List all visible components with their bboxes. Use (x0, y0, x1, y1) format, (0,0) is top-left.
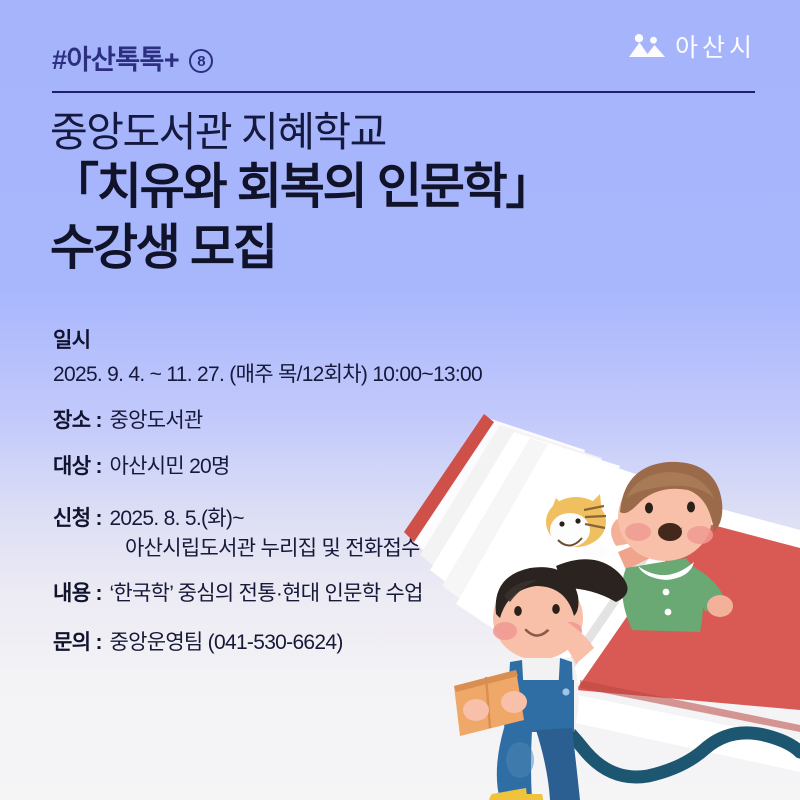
detail-row-date: 일시 2025. 9. 4. ~ 11. 27. (매주 목/12회차) 10:… (53, 325, 693, 390)
detail-label-place: 장소 (53, 405, 90, 437)
detail-value-apply: 2025. 8. 5.(화)~ (109, 504, 243, 534)
detail-separator-place: : (90, 409, 109, 433)
details-list: 일시 2025. 9. 4. ~ 11. 27. (매주 목/12회차) 10:… (53, 325, 693, 674)
detail-value-place: 중앙도서관 (109, 406, 202, 436)
detail-value-apply-line2: 아산시립도서관 누리집 및 전화접수 (53, 534, 693, 564)
title-block: 중앙도서관 지혜학교 「치유와 회복의 인문학」 수강생 모집 (50, 108, 750, 278)
girl-right-hand (501, 691, 527, 713)
detail-row-contact: 문의 : 중앙운영팀 (041-530-6624) (53, 627, 693, 659)
girl-left-hand (463, 699, 489, 721)
episode-number-badge: 8 (189, 49, 213, 73)
poster-title-line2: 수강생 모집 (50, 219, 750, 278)
teal-ribbon-bookmark (548, 710, 800, 777)
poster-subtitle: 중앙도서관 지혜학교 (50, 108, 750, 156)
detail-value-target: 아산시민 20명 (109, 452, 229, 482)
detail-separator-content: : (90, 582, 109, 606)
detail-separator-apply: : (90, 507, 109, 531)
detail-value-content: ‘한국학’ 중심의 전통·현대 인문학 수업 (109, 579, 422, 609)
detail-row-place: 장소 : 중앙도서관 (53, 405, 693, 437)
detail-value-date: 2025. 9. 4. ~ 11. 27. (매주 목/12회차) 10:00~… (53, 360, 693, 390)
detail-label-content: 내용 (53, 578, 90, 610)
detail-label-contact: 문의 (53, 627, 90, 659)
orange-open-book-held (454, 670, 524, 736)
hashtag-label: #아산톡톡+8 (52, 38, 213, 77)
poster-canvas: #아산톡톡+8 아산시 중앙도서관 지혜학교 「치유와 회복의 인문학」 수강생… (0, 0, 800, 800)
brand-name-label: 아산시 (675, 28, 756, 64)
detail-label-apply: 신청 (53, 503, 90, 535)
detail-separator-target: : (90, 455, 109, 479)
detail-label-target: 대상 (53, 451, 90, 483)
asan-mountain-people-icon (628, 33, 666, 59)
poster-header: #아산톡톡+8 아산시 (0, 0, 800, 100)
detail-row-apply: 신청 : 2025. 8. 5.(화)~ 아산시립도서관 누리집 및 전화접수 (53, 503, 693, 565)
detail-row-content: 내용 : ‘한국학’ 중심의 전통·현대 인문학 수업 (53, 578, 693, 610)
asan-city-logo: 아산시 (628, 28, 756, 64)
hashtag-text: #아산톡톡+ (52, 45, 179, 75)
detail-row-target: 대상 : 아산시민 20명 (53, 451, 693, 483)
detail-value-contact: 중앙운영팀 (041-530-6624) (109, 628, 342, 658)
detail-label-date: 일시 (53, 325, 693, 357)
poster-title-line1: 「치유와 회복의 인문학」 (50, 158, 750, 217)
header-divider (52, 91, 755, 93)
detail-separator-contact: : (90, 631, 109, 655)
